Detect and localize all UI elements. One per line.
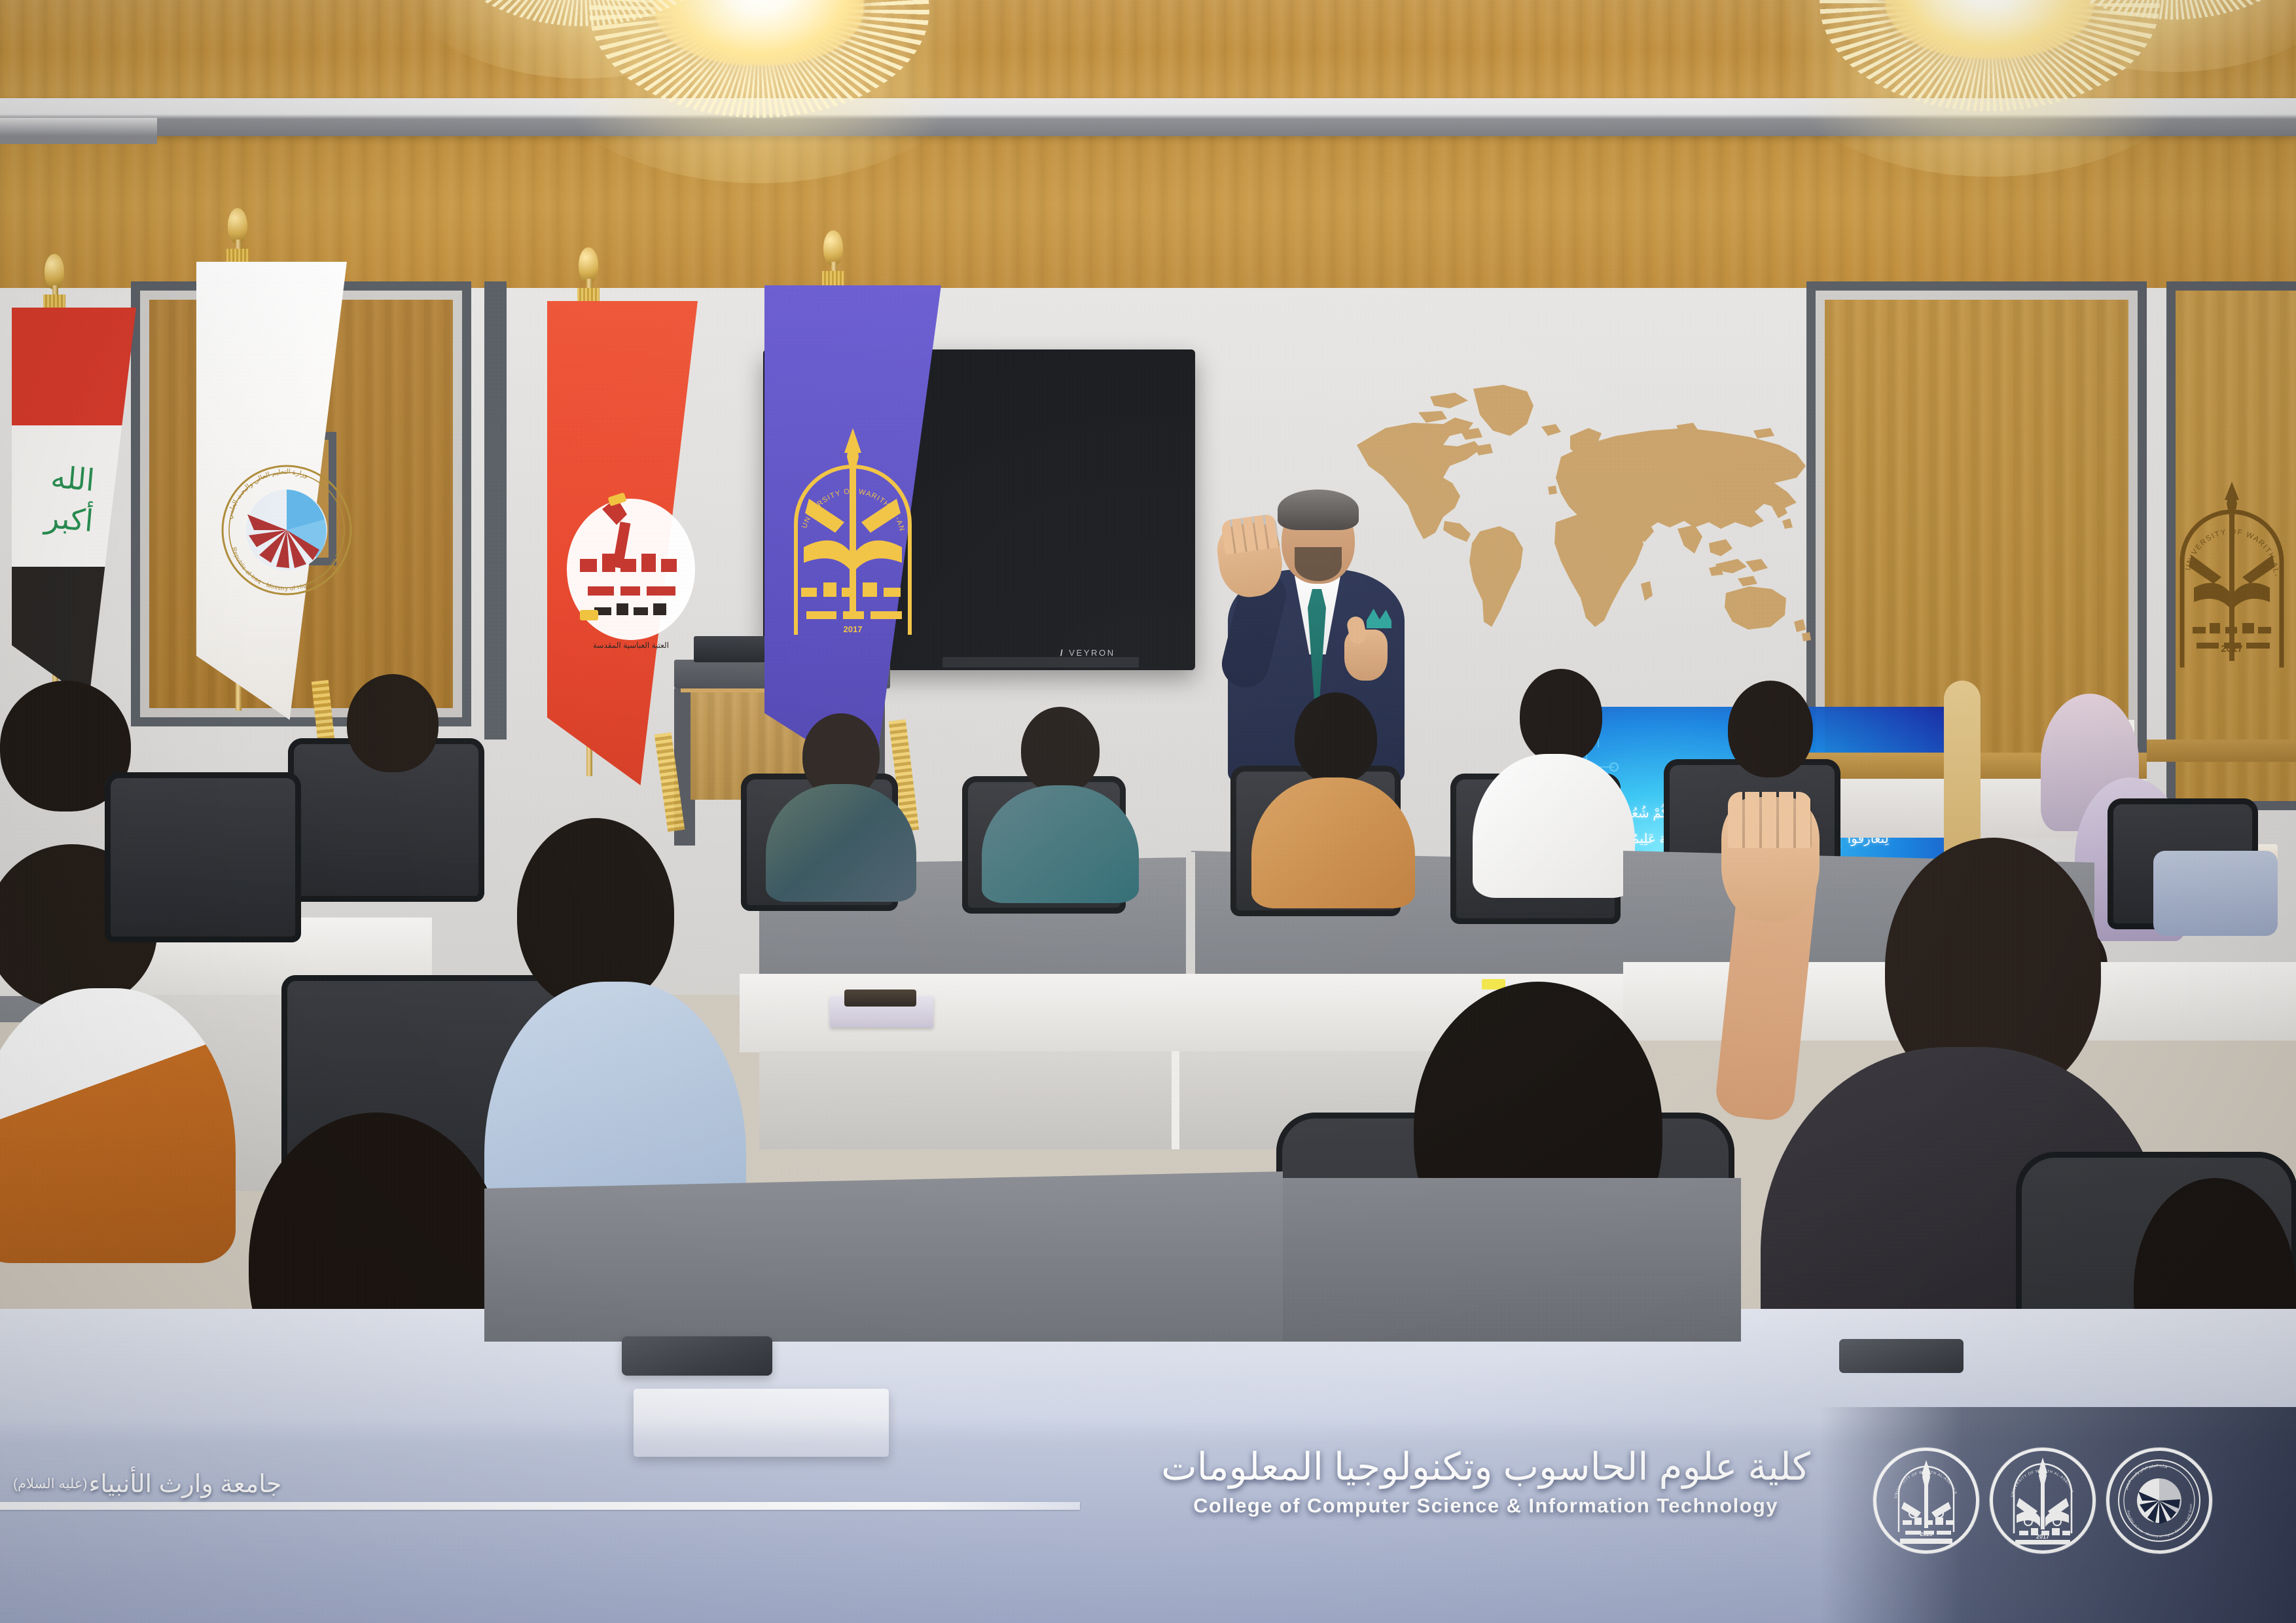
foreground-desk-divider <box>1283 1178 1741 1342</box>
ceiling-cornice-trim <box>0 98 2296 136</box>
presenter-hair <box>1278 490 1359 530</box>
college-name-english: College of Computer Science & Informatio… <box>1139 1493 1833 1519</box>
presenter-beard <box>1295 547 1342 581</box>
flag-holy-shrine-inscription: العتبة العباسية المقدسة <box>593 641 669 650</box>
flag-iraq-inscription: الله أكبر <box>18 454 120 580</box>
office-chair <box>105 772 301 942</box>
student-head <box>1021 707 1100 793</box>
flag-university-year: 2017 <box>844 624 863 634</box>
wall-logo-year: 2017 <box>2221 643 2242 654</box>
seal-college: 2025 UNIVERSITY OF WARITH AL-ANBIYA'A <box>1873 1448 1979 1554</box>
flag-holy-shrine-emblem: العتبة العباسية المقدسة <box>554 432 717 668</box>
smartphone-on-desk <box>844 990 916 1007</box>
desk-front-seam <box>1172 1051 1179 1149</box>
photo-canvas: 2017 UNIVERSITY OF WARITH AL-ANBIYA'A <box>0 0 2296 1623</box>
seal-university-year: 2017 <box>2036 1533 2049 1540</box>
seal-ministry: وزارة التعليم العالي والبحث العلمي Repub… <box>2106 1448 2212 1554</box>
back-table-far-right <box>2147 740 2296 762</box>
notebook-on-foreground-desk <box>634 1389 889 1457</box>
wall-vertical-trim <box>484 281 507 740</box>
smartphone-on-foreground-desk <box>622 1336 772 1376</box>
student-fingers <box>1728 792 1812 848</box>
college-name-block: كلية علوم الحاسوب وتكنولوجيا المعلومات C… <box>1139 1445 1833 1543</box>
foreground-desk-divider <box>484 1171 1283 1342</box>
display-brand-mark: / <box>1060 648 1064 658</box>
college-name-arabic: كلية علوم الحاسوب وتكنولوجيا المعلومات <box>1139 1445 1833 1489</box>
university-name-honorific: (عليه السلام) <box>13 1476 87 1492</box>
student-head <box>1295 692 1377 784</box>
university-wall-logo: 2017 UNIVERSITY OF WARITH AL-ANBIYA'A <box>2153 478 2296 674</box>
display-brand-label: /VEYRON <box>1060 648 1178 662</box>
svg-text:UNIVERSITY OF WARITH AL-ANBIYA: UNIVERSITY OF WARITH AL-ANBIYA'A <box>2153 478 2280 577</box>
smartphone-on-foreground-desk <box>1839 1339 1964 1373</box>
wall-logo-ring-text: UNIVERSITY OF WARITH AL-ANBIYA'A <box>2153 478 2280 577</box>
cornice-left-step <box>0 118 157 144</box>
university-name-arabic: جامعة وارث الأنبياء(عليه السلام) <box>13 1461 295 1507</box>
student-head <box>1520 669 1602 763</box>
student-head <box>517 818 674 1008</box>
display-brand-name: VEYRON <box>1069 648 1115 658</box>
student-head <box>1728 681 1813 777</box>
world-map-wall-decal <box>1345 368 1816 649</box>
student-head <box>347 674 439 772</box>
seal-college-year: 2025 <box>1920 1531 1933 1537</box>
flag-university-emblem: UNIVERSITY OF WARITH AL-ANBIYA'A 2017 <box>771 419 954 668</box>
flag-ministry-emblem: وزارة التعليم العالي والبحث العلمي Repub… <box>208 452 365 615</box>
seal-university: 2017 UNIVERSITY OF WARITH AL-ANBIYA'A <box>1990 1448 2096 1554</box>
university-name-arabic-text: جامعة وارث الأنبياء <box>88 1469 281 1499</box>
student-sleeve <box>2153 851 2278 936</box>
